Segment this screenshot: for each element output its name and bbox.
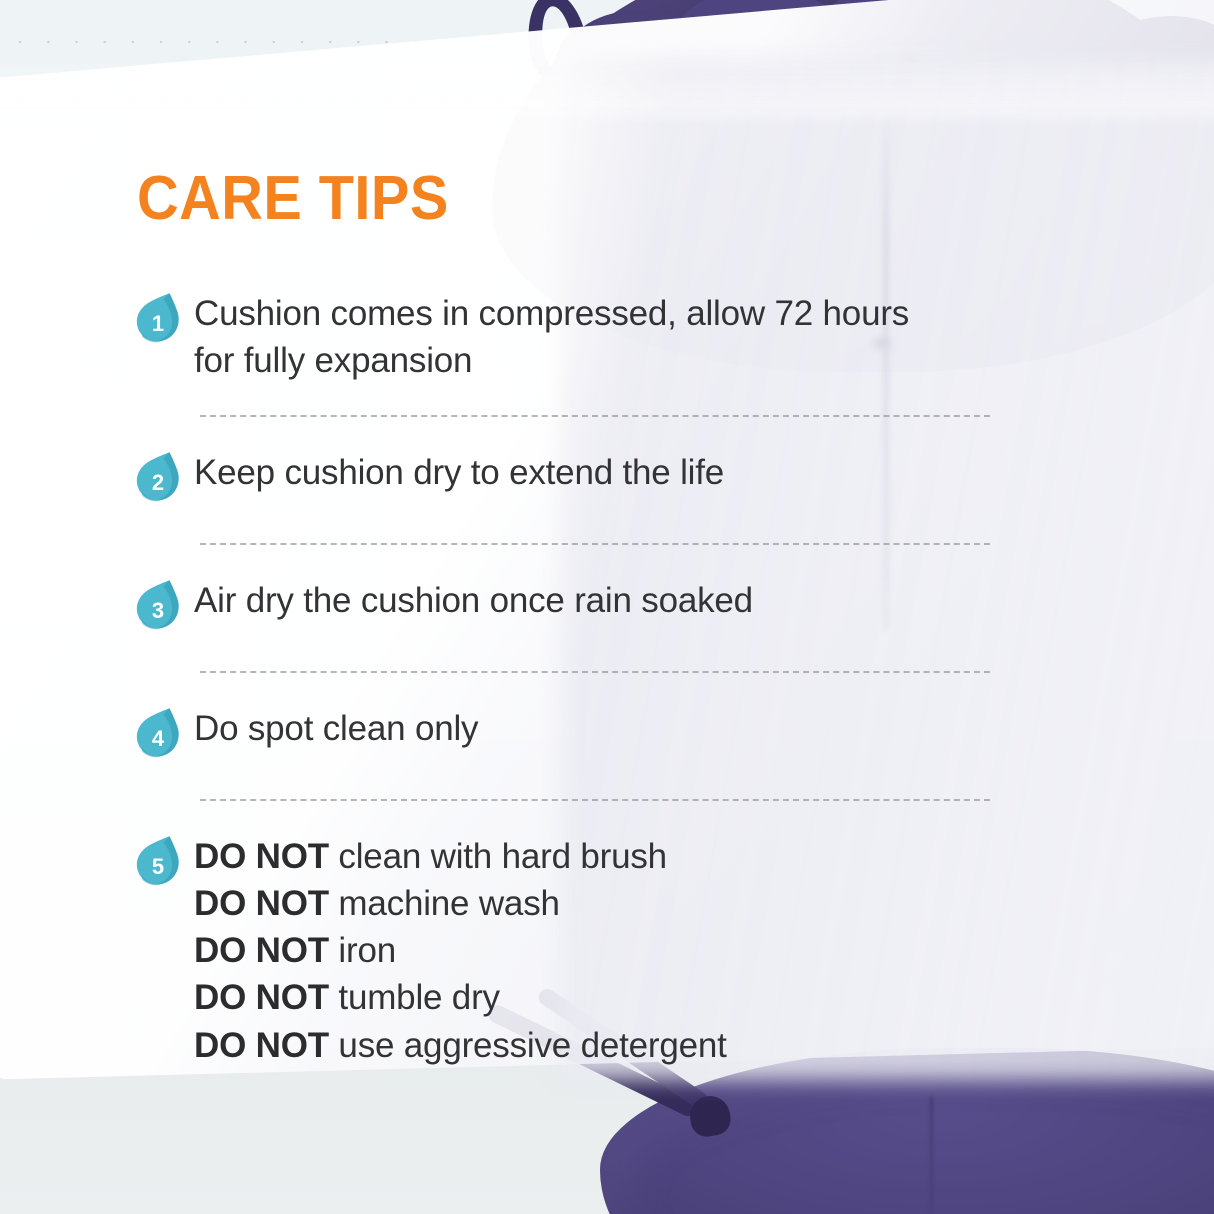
- care-tip-item: 2Keep cushion dry to extend the life: [132, 447, 1012, 513]
- care-tip-text: DO NOT clean with hard brushDO NOT machi…: [194, 831, 1012, 1069]
- water-droplet-icon: [136, 451, 182, 503]
- water-droplet-icon: [136, 579, 182, 631]
- care-tip-segment: Cushion comes in compressed, allow 72 ho…: [194, 294, 909, 333]
- care-tip-text-line: Do spot clean only: [194, 705, 1012, 752]
- spacer: [132, 641, 1012, 671]
- content-area: CARE TIPS 1Cushion comes in compressed, …: [0, 0, 1214, 1214]
- water-droplet-icon: [136, 707, 182, 759]
- care-tip-text: Do spot clean only: [194, 703, 1012, 752]
- water-droplet-icon: [136, 835, 182, 887]
- care-tips-infographic: CARE TIPS 1Cushion comes in compressed, …: [0, 0, 1214, 1214]
- care-tip-bullet: 1: [132, 292, 194, 354]
- care-tip-emphasis: DO NOT: [194, 1026, 329, 1065]
- care-tip-item: 3Air dry the cushion once rain soaked: [132, 575, 1012, 641]
- care-tip-emphasis: DO NOT: [194, 884, 329, 923]
- care-tip-divider: [200, 671, 990, 673]
- care-tip-bullet: 4: [132, 707, 194, 769]
- care-tip-text: Keep cushion dry to extend the life: [194, 447, 1012, 496]
- care-tip-text-line: DO NOT tumble dry: [194, 974, 1012, 1021]
- care-tip-text-line: for fully expansion: [194, 337, 1012, 384]
- care-tip-text-line: DO NOT clean with hard brush: [194, 833, 1012, 880]
- water-droplet-icon: [136, 292, 182, 344]
- care-tip-segment: use aggressive detergent: [329, 1026, 727, 1065]
- care-tip-bullet: 3: [132, 579, 194, 641]
- care-tips-list: 1Cushion comes in compressed, allow 72 h…: [132, 288, 1012, 1069]
- care-tip-bullet: 5: [132, 835, 194, 897]
- spacer: [132, 385, 1012, 415]
- care-tip-bullet: 2: [132, 451, 194, 513]
- care-tip-text-line: Keep cushion dry to extend the life: [194, 449, 1012, 496]
- page-title: CARE TIPS: [137, 168, 449, 230]
- care-tip-divider: [200, 799, 990, 801]
- care-tip-item: 1Cushion comes in compressed, allow 72 h…: [132, 288, 1012, 385]
- care-tip-item: 4Do spot clean only: [132, 703, 1012, 769]
- spacer: [132, 545, 1012, 575]
- care-tip-segment: Keep cushion dry to extend the life: [194, 453, 724, 492]
- care-tip-text: Cushion comes in compressed, allow 72 ho…: [194, 288, 1012, 385]
- care-tip-divider: [200, 543, 990, 545]
- care-tip-text-line: Cushion comes in compressed, allow 72 ho…: [194, 290, 1012, 337]
- care-tip-segment: Do spot clean only: [194, 709, 478, 748]
- spacer: [132, 417, 1012, 447]
- care-tip-text-line: DO NOT machine wash: [194, 880, 1012, 927]
- care-tip-text: Air dry the cushion once rain soaked: [194, 575, 1012, 624]
- care-tip-segment: iron: [329, 931, 396, 970]
- care-tip-item: 5DO NOT clean with hard brushDO NOT mach…: [132, 831, 1012, 1069]
- spacer: [132, 801, 1012, 831]
- care-tip-segment: Air dry the cushion once rain soaked: [194, 581, 753, 620]
- spacer: [132, 769, 1012, 799]
- spacer: [132, 513, 1012, 543]
- care-tip-text-line: DO NOT use aggressive detergent: [194, 1022, 1012, 1069]
- care-tip-text-line: DO NOT iron: [194, 927, 1012, 974]
- care-tip-emphasis: DO NOT: [194, 837, 329, 876]
- care-tip-text-line: Air dry the cushion once rain soaked: [194, 577, 1012, 624]
- spacer: [132, 673, 1012, 703]
- care-tip-emphasis: DO NOT: [194, 931, 329, 970]
- care-tip-divider: [200, 415, 990, 417]
- care-tip-segment: machine wash: [329, 884, 560, 923]
- care-tip-segment: tumble dry: [329, 978, 500, 1017]
- care-tip-segment: for fully expansion: [194, 341, 472, 380]
- care-tip-emphasis: DO NOT: [194, 978, 329, 1017]
- care-tip-segment: clean with hard brush: [329, 837, 667, 876]
